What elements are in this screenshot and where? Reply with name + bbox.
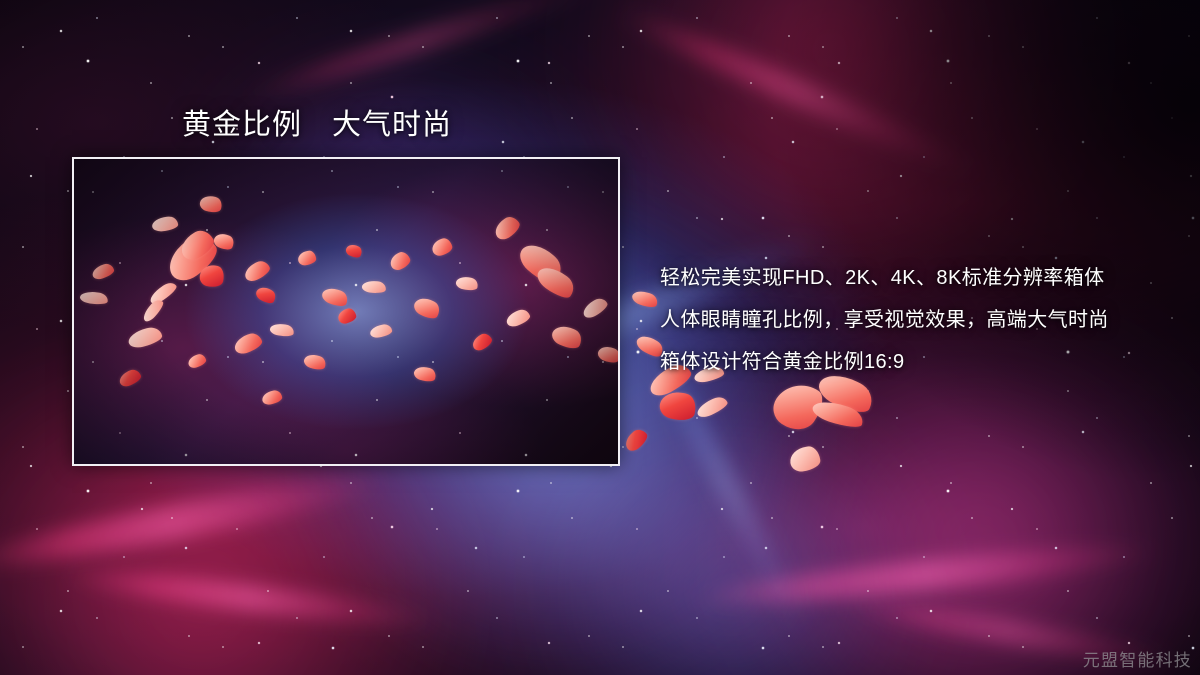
body-line-2: 人体眼睛瞳孔比例，享受视觉效果，高端大气时尚 <box>660 299 1180 341</box>
body-line-3: 箱体设计符合黄金比例16:9 <box>660 341 1180 383</box>
panel-vignette <box>74 159 618 464</box>
display-preview-panel[interactable] <box>72 157 620 466</box>
presentation-slide: 黄金比例 大气时尚 轻松完美实现FHD、2K、4K、8K标准分辨率箱体 人体眼睛… <box>0 0 1200 675</box>
watermark: 元盟智能科技 <box>1083 646 1192 671</box>
body-line-1: 轻松完美实现FHD、2K、4K、8K标准分辨率箱体 <box>660 257 1180 299</box>
page-title: 黄金比例 大气时尚 <box>182 101 452 143</box>
body-copy: 轻松完美实现FHD、2K、4K、8K标准分辨率箱体 人体眼睛瞳孔比例，享受视觉效… <box>660 257 1180 383</box>
